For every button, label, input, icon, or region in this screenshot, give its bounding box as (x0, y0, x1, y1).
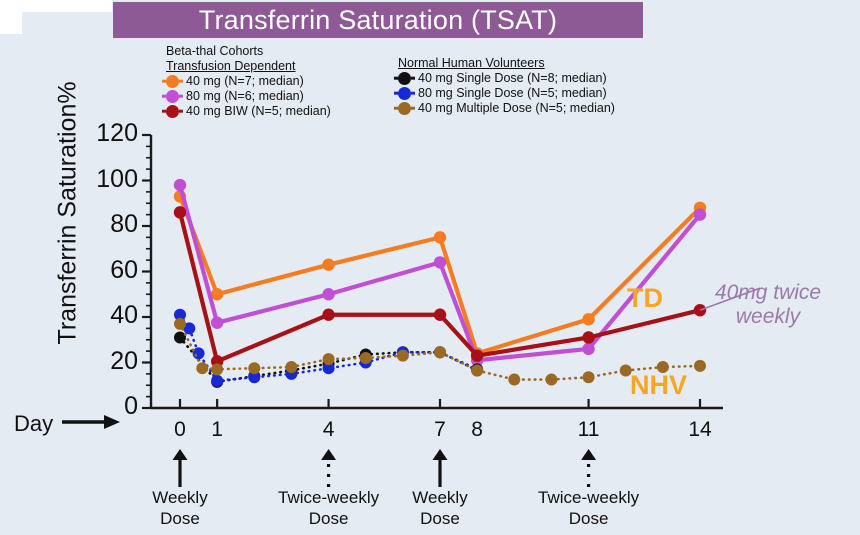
data-point (174, 318, 186, 330)
y-tick-label: 120 (96, 119, 138, 148)
data-point (323, 353, 335, 365)
x-tick-label: 8 (455, 418, 499, 442)
dose-annotation-line2: Dose (509, 508, 669, 529)
data-point (174, 331, 186, 343)
data-point (322, 309, 334, 321)
data-point (694, 208, 706, 220)
y-tick-label: 100 (96, 165, 138, 194)
dose-arrow-head (433, 449, 448, 460)
data-point (434, 309, 446, 321)
data-point (211, 375, 223, 387)
data-point (434, 256, 446, 268)
data-point (322, 288, 334, 300)
data-point (285, 361, 297, 373)
data-point (694, 360, 706, 372)
data-point (248, 362, 260, 374)
y-tick-label: 20 (110, 347, 138, 376)
x-axis-day-label: Day (14, 411, 53, 437)
y-tick-label: 80 (110, 210, 138, 239)
data-point (174, 179, 186, 191)
dose-annotation: Twice-weeklyDose (509, 487, 669, 529)
annotation-td: TD (627, 283, 663, 314)
dose-annotation-line1: Weekly (100, 487, 260, 508)
data-point (582, 343, 594, 355)
data-point (196, 362, 208, 374)
data-point (211, 316, 223, 328)
y-tick-label: 0 (124, 392, 138, 421)
data-point (397, 350, 409, 362)
annotation-nhv: NHV (630, 370, 687, 401)
x-tick-label: 4 (307, 418, 351, 442)
data-point (434, 346, 446, 358)
dose-annotation-line1: Weekly (360, 487, 520, 508)
dose-annotation-line1: Twice-weekly (509, 487, 669, 508)
annotation-40mg-twice-weekly: 40mg twice weekly (703, 281, 833, 329)
annotation-biw-line1: 40mg twice (715, 281, 821, 304)
day-arrow-head (104, 415, 120, 429)
y-tick-label: 60 (110, 256, 138, 285)
x-tick-label: 11 (567, 418, 611, 442)
data-point (582, 331, 594, 343)
dose-arrow-head (321, 449, 336, 460)
series-0 (174, 190, 706, 359)
data-point (471, 349, 483, 361)
y-tick-label: 40 (110, 301, 138, 330)
data-point (322, 258, 334, 270)
data-point (434, 231, 446, 243)
x-tick-label: 1 (195, 418, 239, 442)
dose-annotation-line2: Dose (360, 508, 520, 529)
data-point (582, 313, 594, 325)
dose-annotation: WeeklyDose (360, 487, 520, 529)
data-point (360, 352, 372, 364)
data-point (211, 363, 223, 375)
dose-annotation-line2: Dose (100, 508, 260, 529)
x-axis-day-text: Day (14, 411, 53, 436)
series-1 (174, 179, 706, 367)
data-point (174, 206, 186, 218)
dose-arrow-head (173, 449, 188, 460)
data-point (193, 347, 205, 359)
dose-arrow-head (581, 449, 596, 460)
figure-root: Transferrin Saturation (TSAT) Beta-thal … (0, 0, 860, 535)
data-point (508, 374, 520, 386)
data-point (583, 371, 595, 383)
data-point (545, 374, 557, 386)
x-tick-label: 14 (678, 418, 722, 442)
annotation-biw-line2: weekly (736, 305, 800, 328)
dose-annotation: WeeklyDose (100, 487, 260, 529)
data-point (471, 364, 483, 376)
series-line (180, 185, 700, 360)
